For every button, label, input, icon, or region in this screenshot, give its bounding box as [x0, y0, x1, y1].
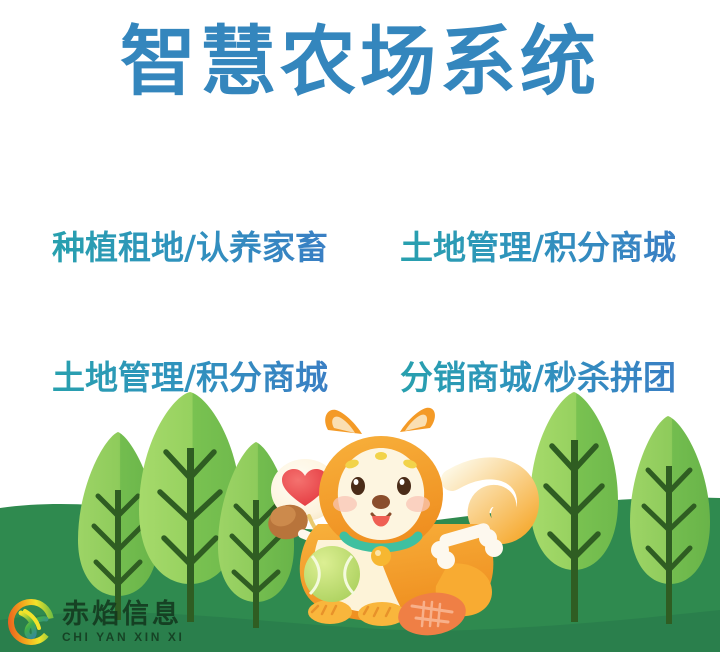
feature-label-planting-rental: 种植租地/认养家畜 [52, 228, 328, 268]
logo-name-en: CHI YAN XIN XI [62, 631, 184, 643]
promo-banner: 智慧农场系统 种植租地/认养家畜 土地管理/积分商城 土地管理/积分商城 分销商… [0, 0, 720, 652]
tennis-ball-icon [304, 546, 360, 602]
dog-head [319, 408, 443, 552]
page-title: 智慧农场系统 [0, 12, 720, 112]
brand-logo: 赤焰信息 CHI YAN XIN XI [6, 596, 216, 648]
logo-name-cn: 赤焰信息 [62, 601, 184, 628]
chiyan-logo-icon [6, 597, 56, 647]
feature-label-land-management-top: 土地管理/积分商城 [400, 228, 676, 268]
